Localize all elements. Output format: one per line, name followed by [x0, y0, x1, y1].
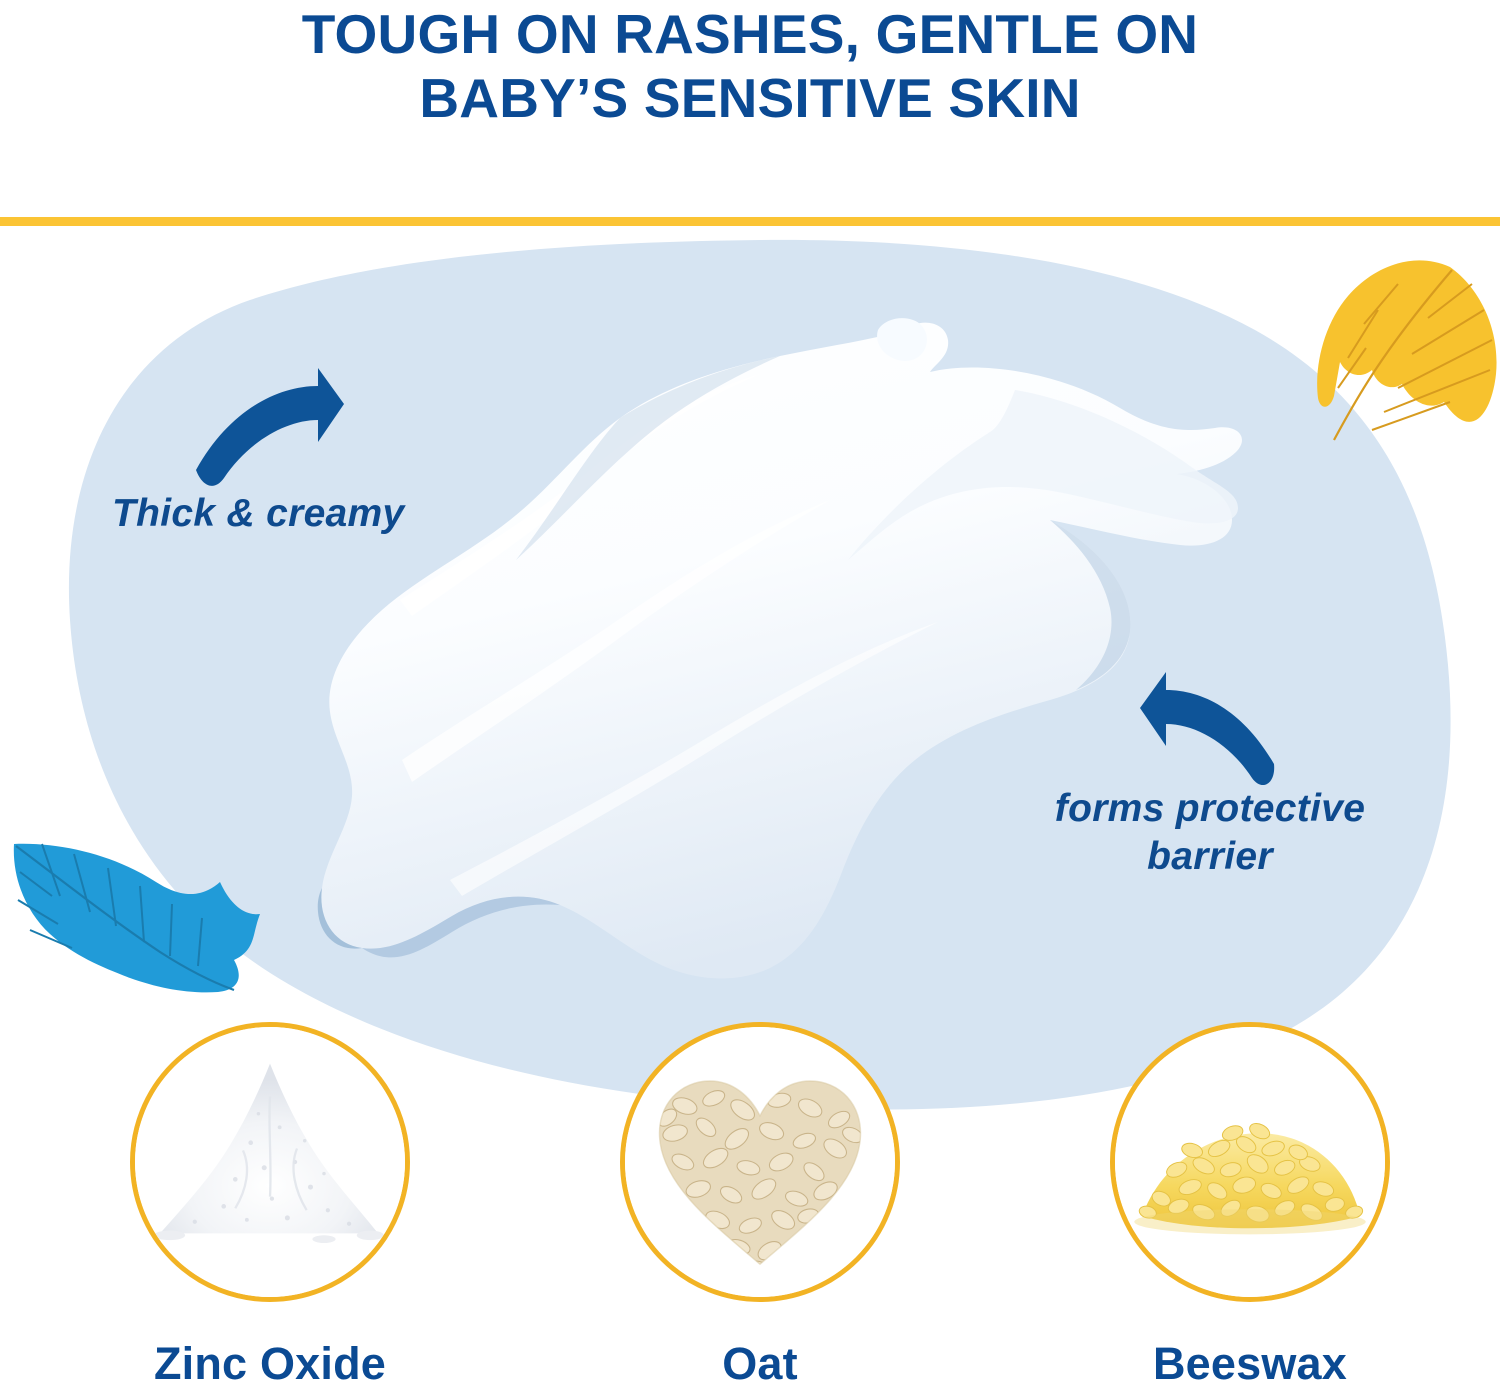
- annotation-thick-creamy: Thick & creamy: [112, 492, 405, 536]
- beeswax-pellets-icon: [1115, 1027, 1385, 1297]
- ingredient-label-beeswax: Beeswax: [1110, 1338, 1390, 1380]
- curved-arrow-left-icon: [1140, 672, 1274, 785]
- zinc-powder-icon: [135, 1027, 405, 1297]
- curved-arrow-right-icon: [196, 368, 344, 486]
- ingredient-zinc-oxide: Zinc Oxide: [130, 1022, 410, 1380]
- marketing-image: TOUGH ON RASHES, GENTLE ON BABY’S SENSIT…: [0, 0, 1500, 1380]
- ingredient-beeswax: Beeswax: [1110, 1022, 1390, 1380]
- ingredient-label-oat: Oat: [620, 1338, 900, 1380]
- ingredient-oat: Oat: [620, 1022, 900, 1380]
- ingredient-disc-beeswax: [1110, 1022, 1390, 1302]
- ingredient-label-zinc: Zinc Oxide: [130, 1338, 410, 1380]
- annotation-protective-barrier: forms protective barrier: [1030, 785, 1390, 880]
- ingredient-disc-oat: [620, 1022, 900, 1302]
- oat-heart-icon: [625, 1027, 895, 1297]
- ingredient-disc-zinc: [130, 1022, 410, 1302]
